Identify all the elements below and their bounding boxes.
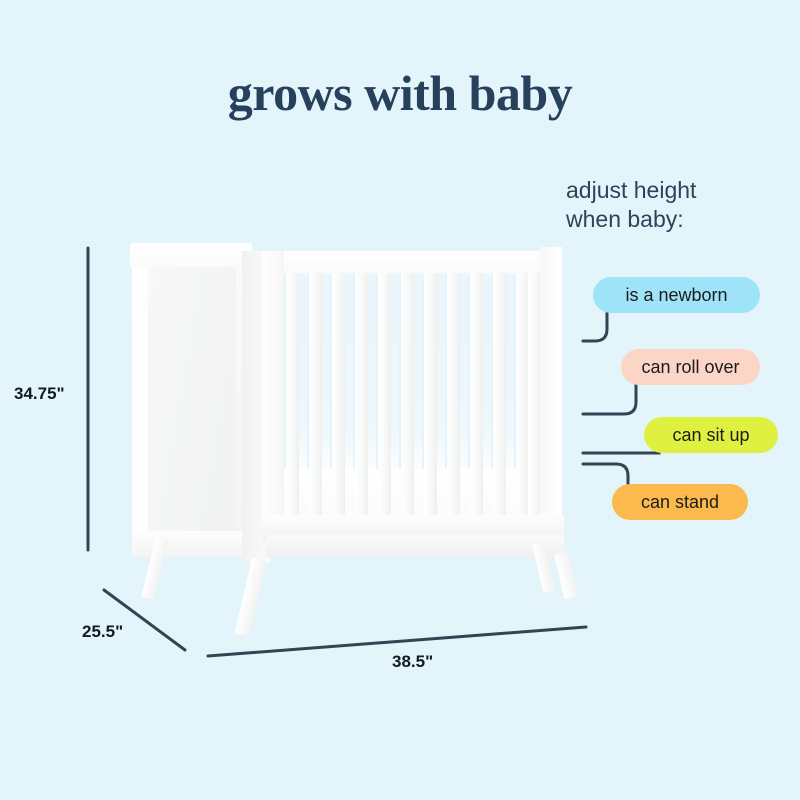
pill-is-a-newborn[interactable]: is a newborn bbox=[593, 277, 760, 313]
pill-connector-lines bbox=[0, 0, 800, 800]
connector-newborn bbox=[583, 313, 607, 341]
connector-stand bbox=[583, 464, 628, 484]
pill-can-stand[interactable]: can stand bbox=[612, 484, 748, 520]
pill-can-roll-over[interactable]: can roll over bbox=[621, 349, 760, 385]
infographic-canvas: grows with baby adjust height when baby: bbox=[0, 0, 800, 800]
pill-can-sit-up[interactable]: can sit up bbox=[644, 417, 778, 453]
connector-rollover bbox=[583, 385, 636, 414]
